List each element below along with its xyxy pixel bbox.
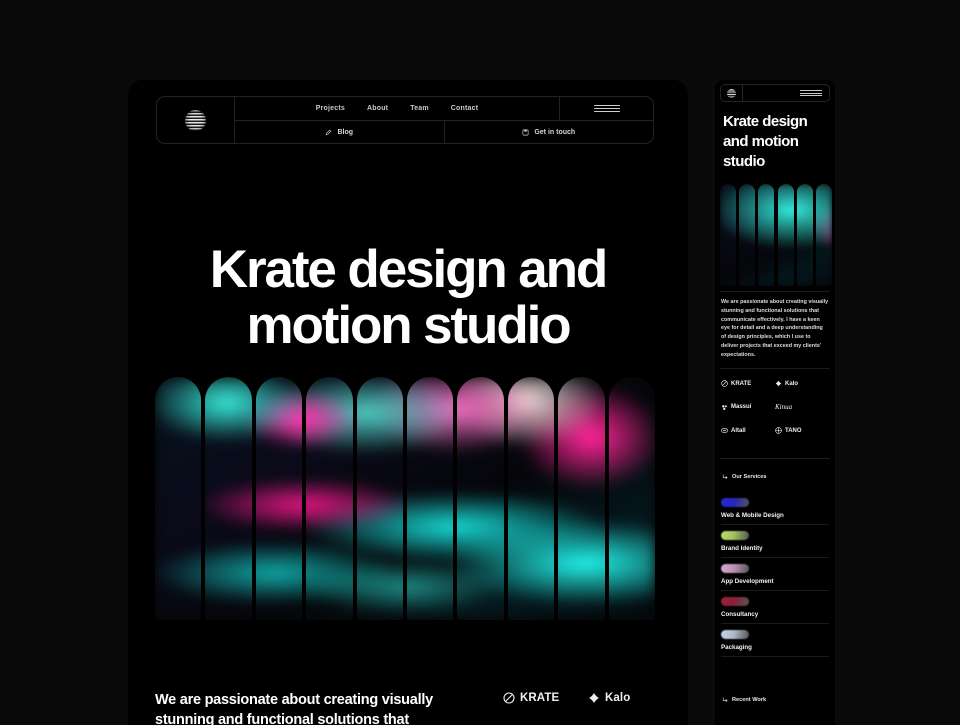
- service-color-swatch: [721, 531, 749, 540]
- gradient-fill: [407, 377, 453, 620]
- service-item[interactable]: Consultancy: [721, 591, 829, 624]
- recent-work-label: Recent Work: [732, 697, 766, 703]
- divider: [720, 291, 830, 292]
- client-logo-label: Altall: [731, 428, 746, 434]
- nav-link-team[interactable]: Team: [410, 105, 429, 112]
- gradient-fill: [778, 184, 794, 286]
- our-services-label: Our Services: [732, 474, 767, 480]
- client-logo-label: KRATE: [731, 381, 751, 387]
- pencil-icon: [325, 129, 332, 136]
- rounded-capsule-icon: [721, 427, 728, 434]
- gradient-fill: [739, 184, 755, 286]
- gradient-strip: [457, 377, 503, 620]
- gradient-strip: [797, 184, 813, 286]
- gradient-strip: [256, 377, 302, 620]
- client-logo[interactable]: Massui: [721, 403, 775, 411]
- four-petal-icon: [775, 380, 782, 387]
- gradient-fill: [155, 377, 201, 620]
- gradient-fill: [357, 377, 403, 620]
- client-logo-label: Kalo: [605, 692, 630, 704]
- flower-cluster-icon: [721, 404, 728, 411]
- blog-button[interactable]: Blog: [235, 121, 444, 143]
- hamburger-menu-icon: [594, 105, 620, 113]
- divider: [720, 458, 830, 459]
- gradient-fill: [609, 377, 655, 620]
- client-logo[interactable]: Altall: [721, 427, 775, 434]
- gradient-fill: [256, 377, 302, 620]
- mobile-navbar: [720, 84, 830, 102]
- blog-button-label: Blog: [337, 129, 353, 136]
- gradient-fill: [205, 377, 251, 620]
- client-logo-label: Massui: [731, 404, 751, 410]
- mobile-brand-logo[interactable]: [721, 85, 743, 101]
- service-item[interactable]: App Development: [721, 558, 829, 591]
- mobile-client-logo-grid: KRATEKaloMassuiKinuaAltallTANO: [721, 380, 829, 434]
- service-color-swatch: [721, 597, 749, 606]
- striped-sphere-logo-icon: [185, 110, 206, 131]
- brand-logo[interactable]: [157, 97, 235, 143]
- gradient-strip: [739, 184, 755, 286]
- gradient-fill: [797, 184, 813, 286]
- striped-sphere-logo-icon: [727, 89, 736, 98]
- page-title: Krate design and motion studio: [128, 242, 688, 353]
- nav-link-contact[interactable]: Contact: [451, 105, 478, 112]
- gradient-fill: [457, 377, 503, 620]
- our-services-heading: Our Services: [722, 474, 830, 480]
- get-in-touch-button[interactable]: Get in touch: [444, 121, 654, 143]
- service-color-swatch: [721, 630, 749, 639]
- menu-button[interactable]: [559, 97, 653, 121]
- service-label: Packaging: [721, 644, 829, 651]
- mobile-page-title: Krate design and motion studio: [723, 112, 827, 171]
- gradient-fill: [720, 184, 736, 286]
- service-label: Brand Identity: [721, 545, 829, 552]
- client-logo[interactable]: Kinua: [775, 403, 829, 411]
- get-in-touch-label: Get in touch: [534, 129, 575, 136]
- arrow-turn-down-right-icon: [722, 474, 728, 480]
- gradient-strips-artwork: [155, 377, 655, 620]
- gradient-strip: [306, 377, 352, 620]
- client-logo[interactable]: KRATE: [503, 692, 588, 704]
- save-disk-icon: [522, 129, 529, 136]
- service-color-swatch: [721, 564, 749, 573]
- nav-link-about[interactable]: About: [367, 105, 388, 112]
- hamburger-menu-icon[interactable]: [800, 90, 822, 96]
- service-item[interactable]: Brand Identity: [721, 525, 829, 558]
- gradient-fill: [758, 184, 774, 286]
- service-item[interactable]: Packaging: [721, 624, 829, 657]
- service-color-swatch: [721, 498, 749, 507]
- client-logo[interactable]: Kalo: [775, 380, 829, 387]
- mobile-about-paragraph: We are passionate about creating visuall…: [721, 298, 829, 359]
- slashed-circle-icon: [721, 380, 728, 387]
- desktop-navbar: Projects About Team Contact Blog: [156, 96, 654, 144]
- gradient-strip: [558, 377, 604, 620]
- recent-work-heading: Recent Work: [722, 697, 830, 703]
- gradient-fill: [816, 184, 832, 286]
- client-logo-label: Kalo: [785, 381, 798, 387]
- mobile-gradient-strips-artwork: [720, 184, 832, 286]
- gradient-strip: [155, 377, 201, 620]
- client-logo[interactable]: KRATE: [721, 380, 775, 387]
- service-label: Consultancy: [721, 611, 829, 618]
- gradient-fill: [558, 377, 604, 620]
- gradient-strip: [816, 184, 832, 286]
- services-list: Web & Mobile DesignBrand IdentityApp Dev…: [721, 492, 829, 657]
- desktop-preview-panel: Projects About Team Contact Blog: [128, 80, 688, 725]
- gradient-strip: [720, 184, 736, 286]
- gradient-strip: [357, 377, 403, 620]
- primary-nav-links: Projects About Team Contact: [235, 97, 559, 121]
- hero-title-line-2: motion studio: [246, 296, 569, 355]
- client-logo-label: Kinua: [775, 403, 792, 411]
- client-logo-label: KRATE: [520, 692, 559, 704]
- gradient-strip: [609, 377, 655, 620]
- divider: [720, 368, 830, 369]
- service-item[interactable]: Web & Mobile Design: [721, 492, 829, 525]
- gradient-fill: [306, 377, 352, 620]
- slashed-circle-icon: [503, 692, 515, 704]
- gradient-strip: [205, 377, 251, 620]
- mobile-preview-panel: Krate design and motion studio We are pa…: [715, 80, 835, 725]
- arrow-turn-down-right-icon: [722, 697, 728, 703]
- gradient-fill: [508, 377, 554, 620]
- client-logo[interactable]: TANO: [775, 427, 829, 434]
- nav-link-projects[interactable]: Projects: [316, 105, 345, 112]
- four-petal-icon: [588, 692, 600, 704]
- atom-circle-icon: [775, 427, 782, 434]
- client-logo[interactable]: Kalo: [588, 692, 673, 704]
- gradient-strip: [508, 377, 554, 620]
- service-label: Web & Mobile Design: [721, 512, 829, 519]
- service-label: App Development: [721, 578, 829, 585]
- gradient-strip: [758, 184, 774, 286]
- gradient-strip: [407, 377, 453, 620]
- client-logo-label: TANO: [785, 428, 802, 434]
- client-logo-grid: KRATEKaloMassuiKinuaAltallTANO: [503, 692, 673, 725]
- about-paragraph: We are passionate about creating visuall…: [155, 690, 445, 725]
- gradient-strip: [778, 184, 794, 286]
- hero-title-line-1: Krate design and: [210, 240, 606, 299]
